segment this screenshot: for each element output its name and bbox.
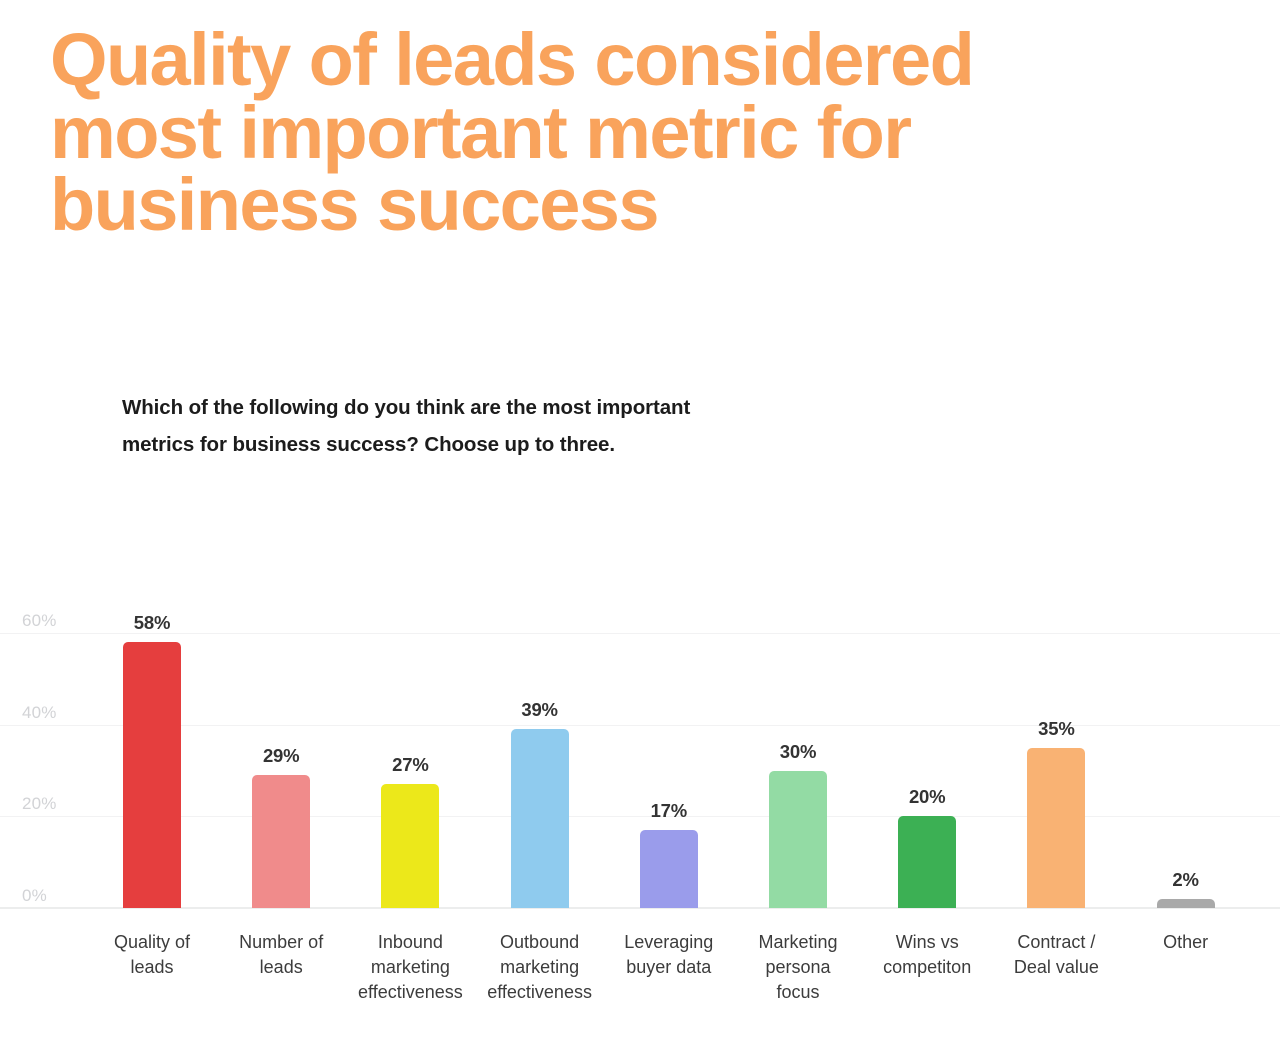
bar-value-label: 35% [1038,718,1074,740]
bar[interactable] [640,830,698,908]
bar-value-label: 58% [134,612,170,634]
bar-value-label: 27% [392,754,428,776]
bar[interactable] [252,775,310,908]
bar-value-label: 2% [1172,869,1198,891]
bar-group[interactable]: 27% [381,784,439,908]
bar[interactable] [898,816,956,908]
bar-group[interactable]: 29% [252,775,310,908]
x-axis-category-label: Number of leads [217,930,346,980]
x-axis-category-label: Outbound marketing effectiveness [475,930,604,1005]
gridline [0,725,1280,726]
x-axis-category-label: Contract / Deal value [992,930,1121,980]
bar-value-label: 29% [263,745,299,767]
x-axis-category-label: Other [1121,930,1250,955]
y-axis-tick-label: 20% [22,794,57,814]
y-axis-tick-label: 40% [22,703,57,723]
bar-value-label: 30% [780,741,816,763]
bar-value-label: 20% [909,786,945,808]
x-axis-category-label: Wins vs competiton [863,930,992,980]
bar[interactable] [769,771,827,908]
y-axis-tick-label: 60% [22,611,57,631]
bar-group[interactable]: 17% [640,830,698,908]
bar-group[interactable]: 39% [511,729,569,908]
x-axis-category-label: Marketing persona focus [733,930,862,1005]
bar-group[interactable]: 30% [769,771,827,908]
x-axis-category-label: Quality of leads [87,930,216,980]
x-axis-category-label: Inbound marketing effectiveness [346,930,475,1005]
bar-value-label: 17% [651,800,687,822]
y-axis-tick-label: 0% [22,886,47,906]
bar[interactable] [381,784,439,908]
bar-value-label: 39% [521,699,557,721]
gridline [0,816,1280,817]
gridline [0,633,1280,634]
bar[interactable] [511,729,569,908]
bar-group[interactable]: 58% [123,642,181,908]
x-axis-category-label: Leveraging buyer data [604,930,733,980]
bar[interactable] [123,642,181,908]
bar-group[interactable]: 2% [1157,899,1215,908]
bar-chart: 0%20%40%60%58%Quality of leads29%Number … [0,0,1280,1050]
bar[interactable] [1157,899,1215,908]
bar[interactable] [1027,748,1085,908]
bar-group[interactable]: 35% [1027,748,1085,908]
bar-group[interactable]: 20% [898,816,956,908]
